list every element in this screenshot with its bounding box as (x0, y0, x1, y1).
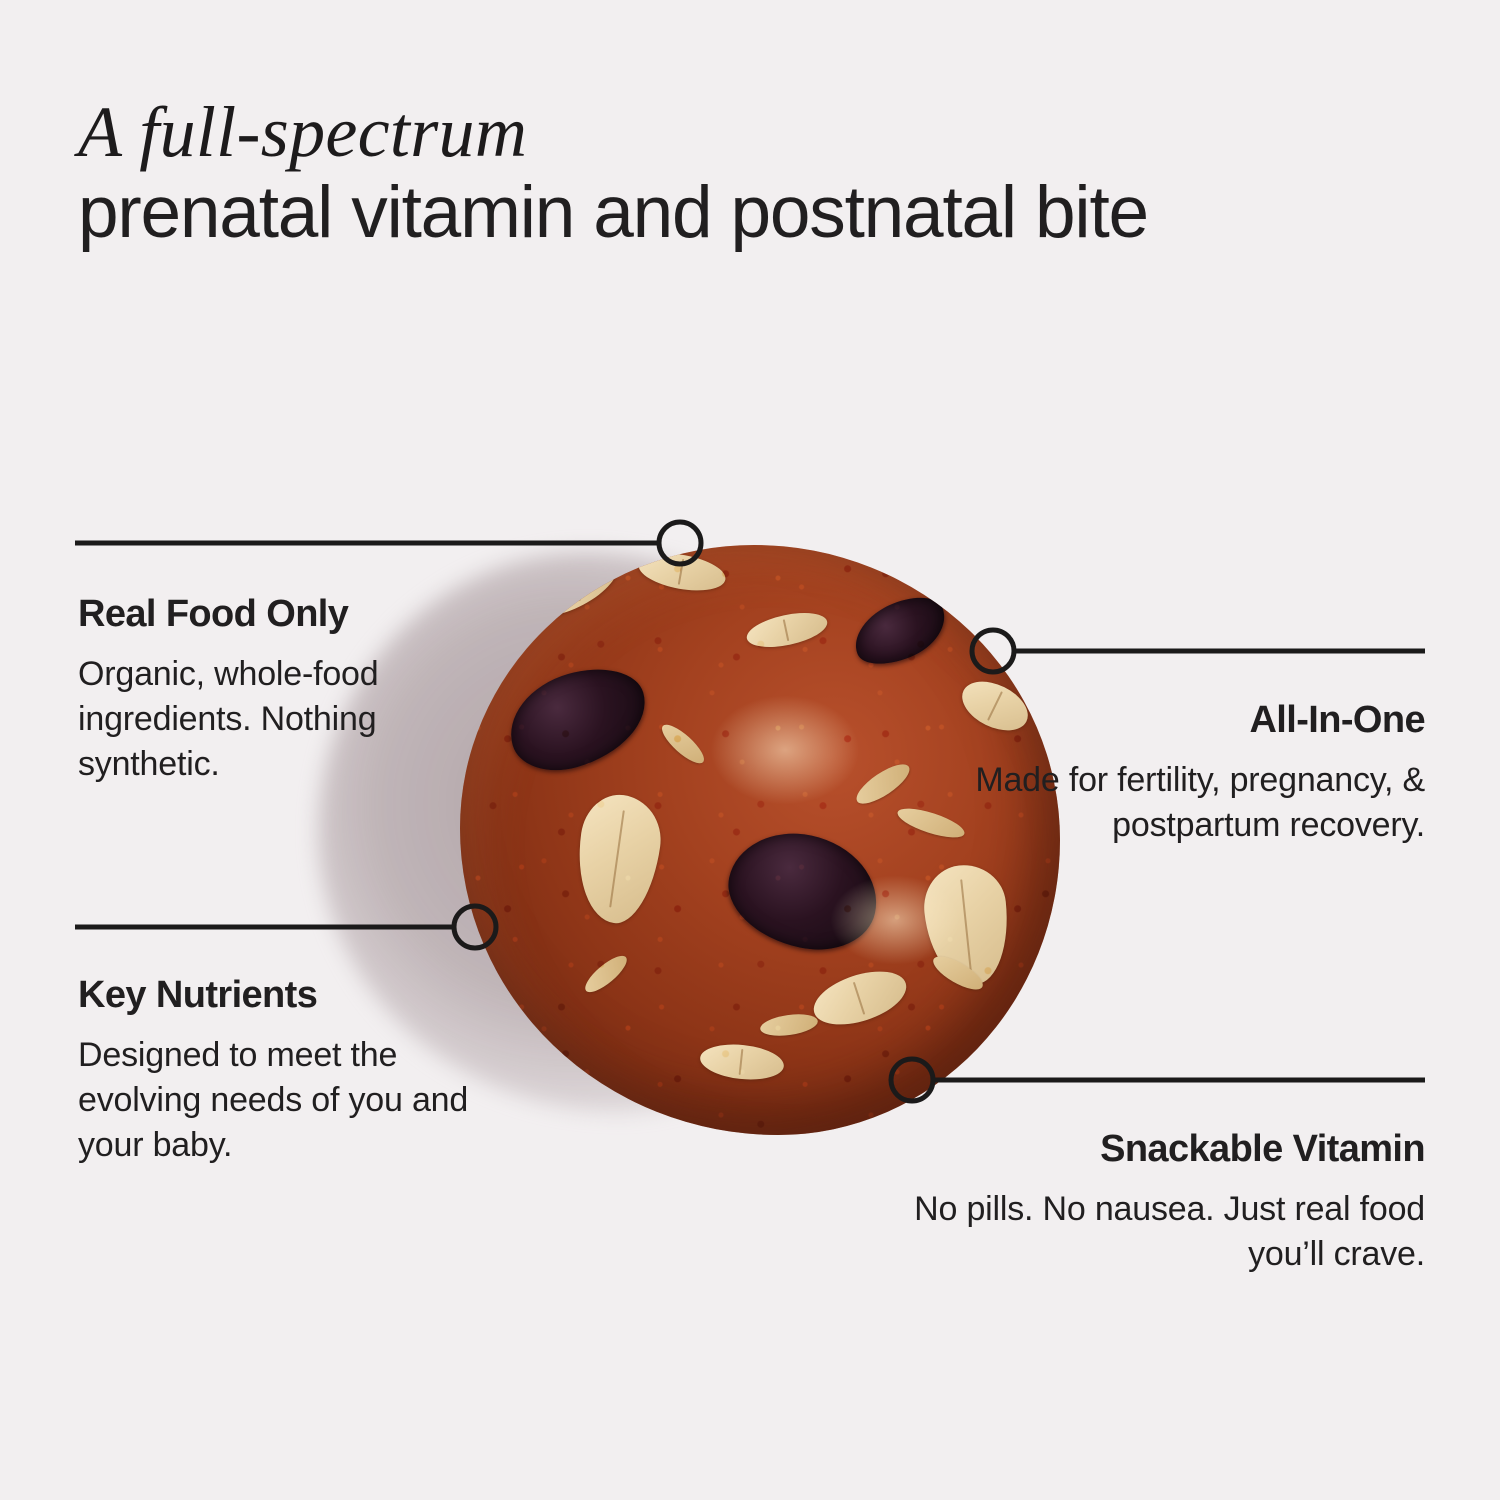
dried-berry-inclusion (498, 655, 658, 782)
rolled-oat-inclusion (807, 961, 913, 1034)
feature-title: Real Food Only (78, 594, 478, 636)
seed-inclusion (657, 719, 709, 769)
rolled-oat-inclusion (698, 1041, 785, 1084)
seed-inclusion (929, 950, 987, 995)
feature-body: Made for fertility, pregnancy, & postpar… (945, 758, 1425, 848)
feature-body: Designed to meet the evolving needs of y… (78, 1033, 478, 1169)
headline-script-line: A full-spectrum (78, 96, 1408, 168)
rolled-oat-inclusion (744, 607, 830, 653)
feature-key-nutrients: Key Nutrients Designed to meet the evolv… (78, 975, 478, 1168)
feature-title: Snackable Vitamin (865, 1129, 1425, 1171)
rolled-oat-inclusion (636, 548, 729, 597)
feature-title: Key Nutrients (78, 975, 478, 1017)
feature-all-in-one: All-In-One Made for fertility, pregnancy… (945, 700, 1425, 848)
infographic-canvas: A full-spectrum prenatal vitamin and pos… (0, 0, 1500, 1500)
seed-inclusion (580, 950, 631, 997)
feature-body: No pills. No nausea. Just real food you’… (865, 1187, 1425, 1277)
dried-berry-inclusion (718, 821, 888, 962)
rolled-oat-inclusion (920, 861, 1014, 989)
dried-berry-inclusion (845, 587, 955, 675)
rolled-oat-inclusion (569, 790, 666, 928)
surface-glint (830, 875, 960, 965)
feature-body: Organic, whole-food ingredients. Nothing… (78, 652, 478, 788)
page-title: A full-spectrum prenatal vitamin and pos… (78, 96, 1408, 253)
feature-real-food-only: Real Food Only Organic, whole-food ingre… (78, 594, 478, 787)
rolled-oat-inclusion (522, 547, 626, 627)
seed-inclusion (851, 758, 915, 811)
surface-glint (710, 695, 860, 805)
seed-inclusion (759, 1011, 819, 1039)
feature-title: All-In-One (945, 700, 1425, 742)
feature-snackable-vitamin: Snackable Vitamin No pills. No nausea. J… (865, 1129, 1425, 1277)
headline-main-line: prenatal vitamin and postnatal bite (78, 174, 1408, 253)
